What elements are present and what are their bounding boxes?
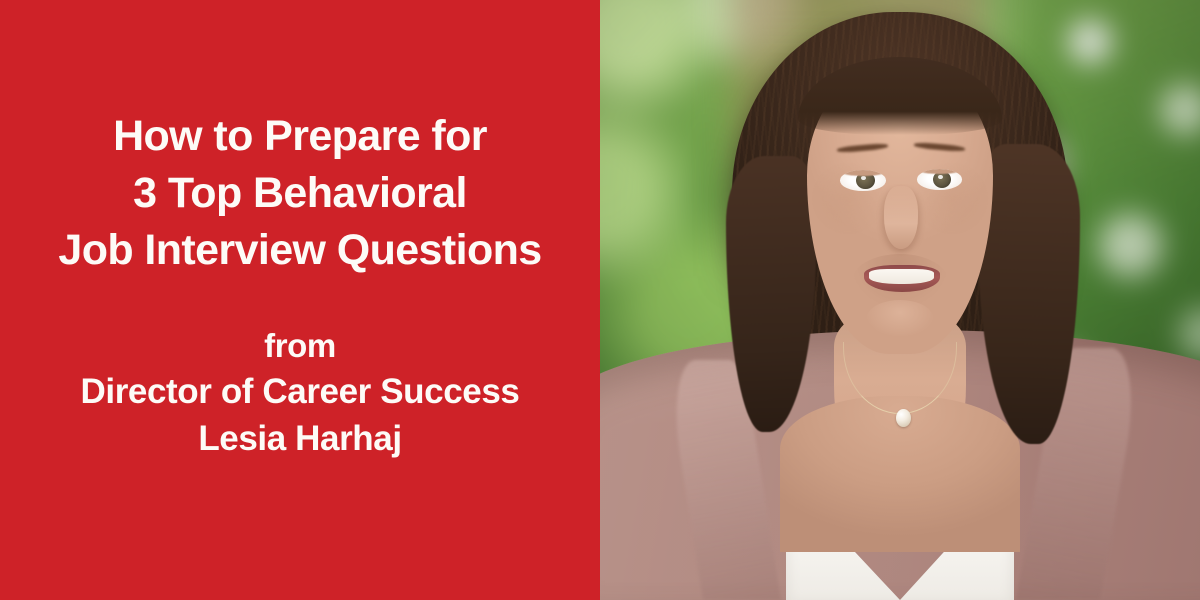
attribution-block: from Director of Career Success Lesia Ha… [12,324,588,462]
attribution-name: Lesia Harhaj [12,415,588,462]
attribution-role: Director of Career Success [12,368,588,415]
headline-line-2: 3 Top Behavioral [12,165,588,222]
attribution-preposition: from [12,324,588,368]
eye-right [917,169,963,189]
red-title-panel: How to Prepare for 3 Top Behavioral Job … [0,0,600,600]
photo-subject [600,0,1200,600]
headline-line-1: How to Prepare for [12,108,588,165]
text-stack: How to Prepare for 3 Top Behavioral Job … [0,108,600,462]
title-card-slide: How to Prepare for 3 Top Behavioral Job … [0,0,1200,600]
pearl-pendant [896,409,911,427]
headline-line-3: Job Interview Questions [12,222,588,279]
eyelid-right [917,169,963,174]
chin [867,300,933,336]
nose [884,186,918,249]
speaker-photo [600,0,1200,600]
eye-left [840,170,886,190]
eyelid-left [840,170,886,175]
mouth [864,265,940,291]
teeth [869,269,934,283]
page-title: How to Prepare for 3 Top Behavioral Job … [12,108,588,279]
